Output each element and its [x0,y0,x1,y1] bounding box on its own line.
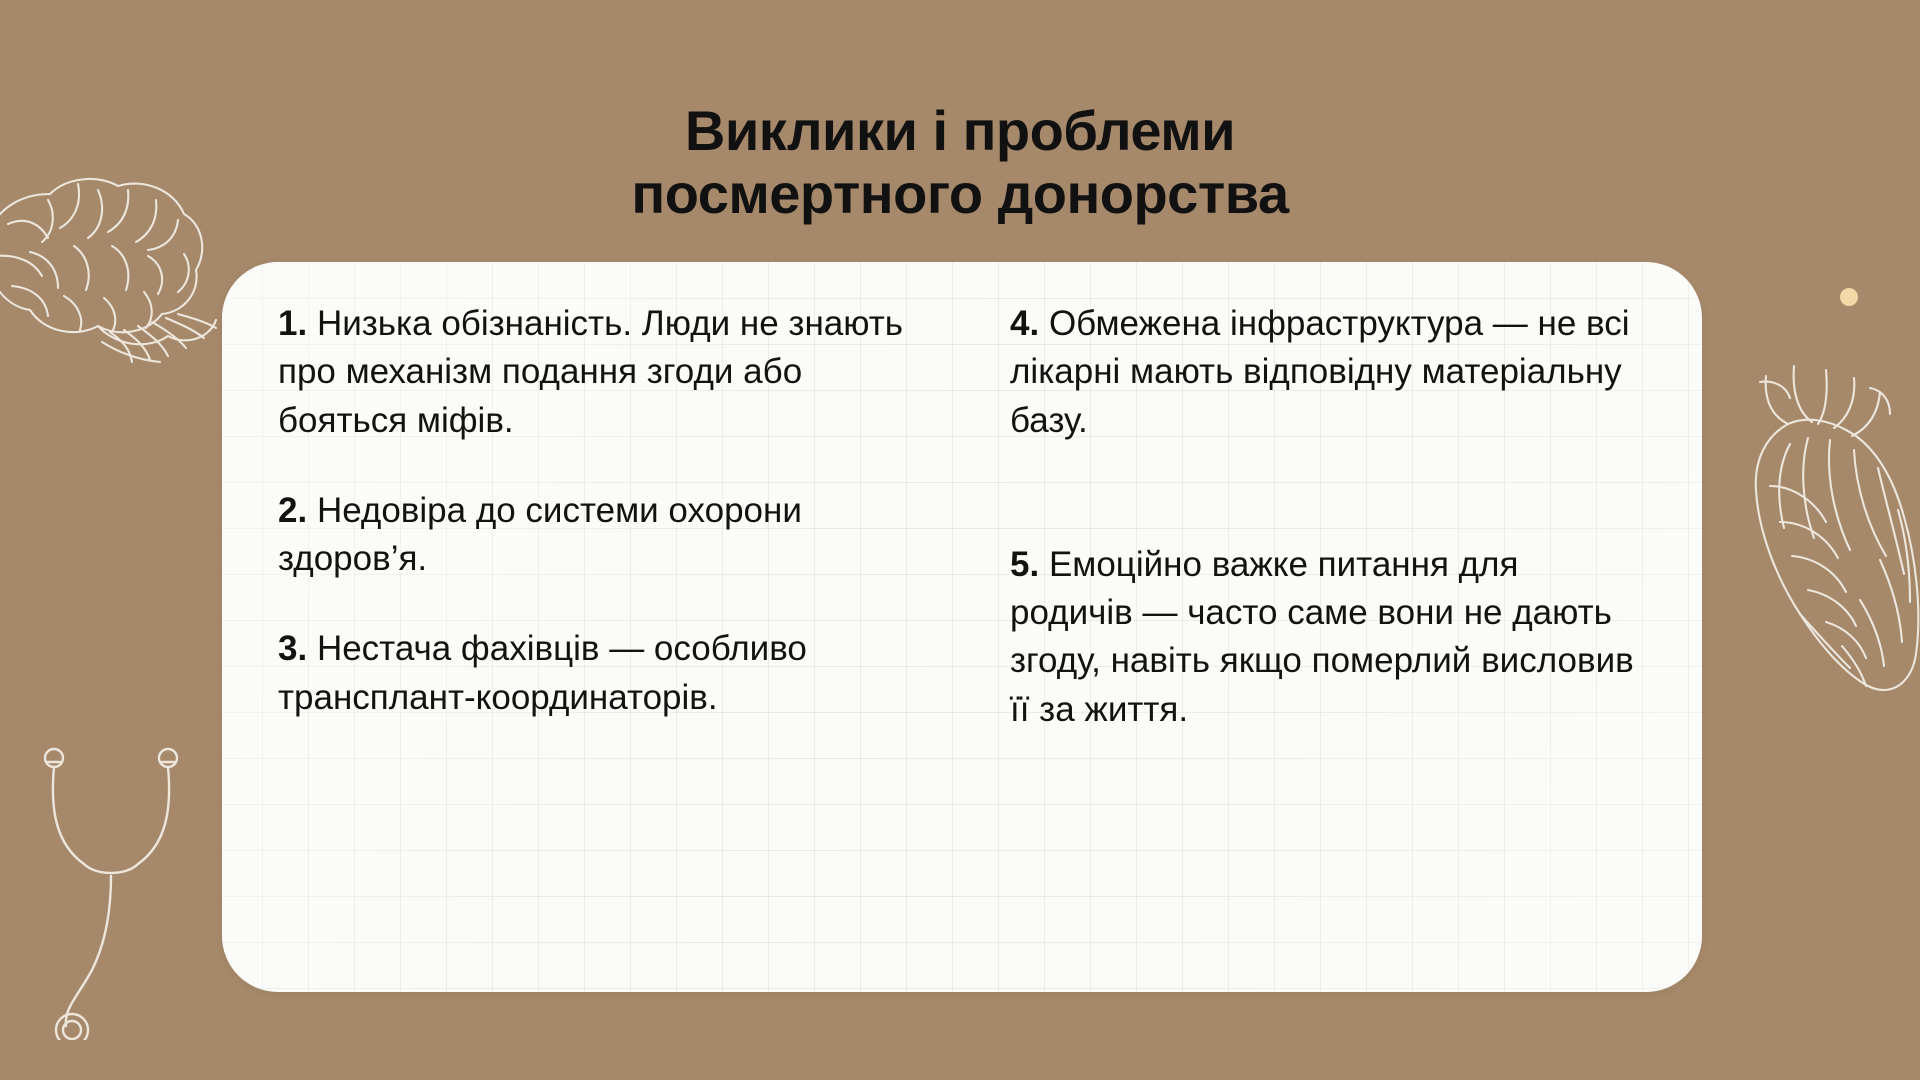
list-item-number: 2. [278,491,307,530]
content-columns: 1. Низька обізнаність. Люди не знають пр… [222,262,1702,992]
heart-illustration [1730,360,1920,740]
page-title: Виклики і проблеми посмертного донорства [0,100,1920,225]
accent-dot [1840,288,1858,306]
list-item: 1. Низька обізнаність. Люди не знають пр… [278,300,914,445]
list-item: 2. Недовіра до системи охорони здоров’я. [278,487,914,584]
list-item-text: Низька обізнаність. Люди не знають про м… [278,304,903,440]
list-item-number: 1. [278,304,307,343]
title-line-1: Виклики і проблеми [0,100,1920,163]
list-item-text: Емоційно важке питання для родичів — час… [1010,545,1634,729]
list-item-text: Нестача фахівців — особливо трансплант-к… [278,629,807,716]
list-item: 5. Емоційно важке питання для родичів — … [1010,541,1646,734]
list-item-number: 3. [278,629,307,668]
content-card: 1. Низька обізнаність. Люди не знають пр… [222,262,1702,992]
title-line-2: посмертного донорства [0,163,1920,226]
list-item-text: Недовіра до системи охорони здоров’я. [278,491,802,578]
list-item: 3. Нестача фахівців — особливо трансплан… [278,625,914,722]
list-item-number: 4. [1010,304,1039,343]
left-column: 1. Низька обізнаність. Люди не знають пр… [278,300,914,992]
list-item: 4. Обмежена інфраструктура — не всі ліка… [1010,300,1646,445]
list-item-number: 5. [1010,545,1039,584]
list-item-text: Обмежена інфраструктура — не всі лікарні… [1010,304,1630,440]
stethoscope-illustration [30,740,200,1040]
right-column: 4. Обмежена інфраструктура — не всі ліка… [1010,300,1646,992]
